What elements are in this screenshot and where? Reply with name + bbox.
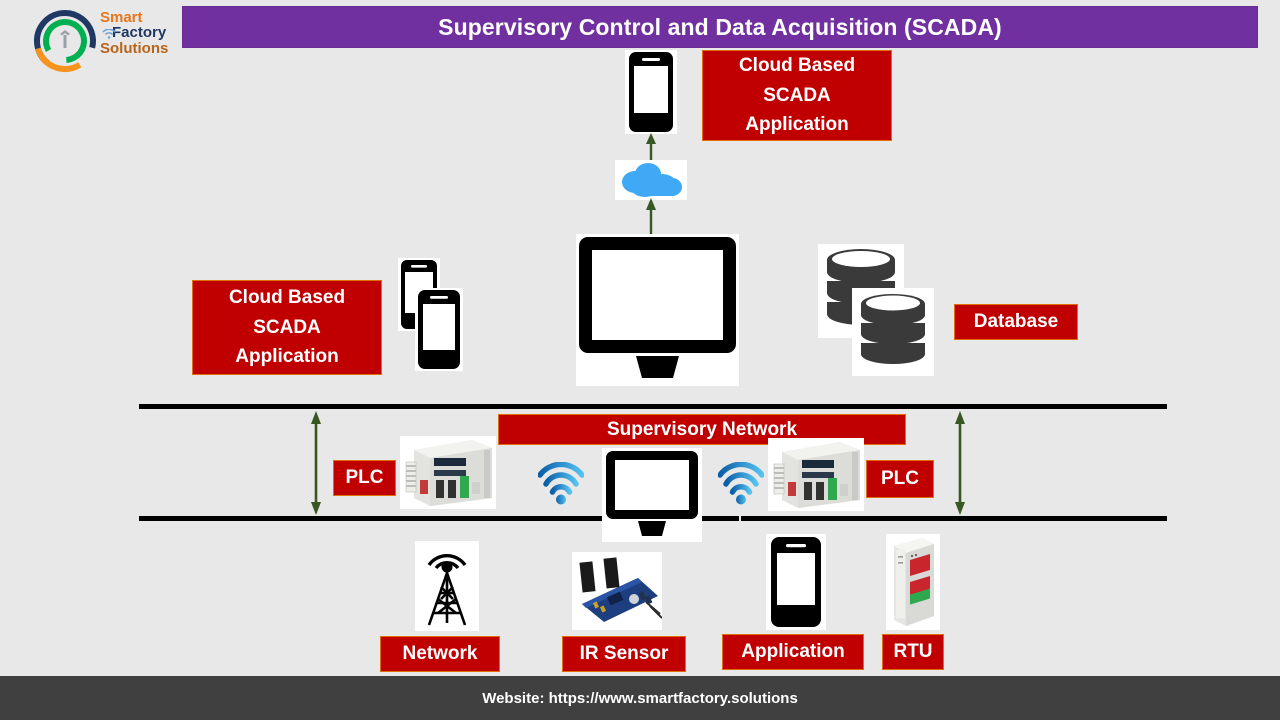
label-line-3: Application — [745, 110, 848, 139]
plc-hardware-icon — [768, 438, 864, 511]
label-plc-left-text: PLC — [346, 467, 384, 489]
ir-sensor-board-icon — [572, 552, 662, 630]
arrow-up-icon — [641, 198, 661, 238]
label-plc-left: PLC — [333, 460, 396, 496]
scada-diagram-canvas: Smart Factory Solutions Supervisory Cont… — [0, 0, 1280, 720]
desktop-monitor-icon — [576, 234, 739, 386]
page-title: Supervisory Control and Data Acquisition… — [182, 6, 1258, 48]
wifi-icon — [718, 462, 764, 506]
radio-tower-icon — [415, 541, 479, 631]
logo-line-smart: Smart — [100, 10, 168, 25]
label-database-text: Database — [974, 311, 1059, 333]
label-line-1: Cloud Based — [739, 51, 855, 80]
label-rtu: RTU — [882, 634, 944, 670]
label-database: Database — [954, 304, 1078, 340]
label-line-2: SCADA — [253, 313, 321, 342]
wifi-icon — [538, 462, 584, 506]
rtu-module-icon — [886, 534, 940, 630]
footer-website-text: Website: https://www.smartfactory.soluti… — [482, 690, 798, 707]
label-application-text: Application — [741, 641, 844, 663]
label-line-1: Cloud Based — [229, 283, 345, 312]
label-application: Application — [722, 634, 864, 670]
database-cylinders-icon — [852, 288, 934, 376]
label-ir-sensor-text: IR Sensor — [580, 643, 669, 665]
label-plc-right-text: PLC — [881, 468, 919, 490]
label-network: Network — [380, 636, 500, 672]
logo-ring-icon — [32, 8, 98, 74]
mobile-phone-icon — [625, 50, 677, 134]
logo-wifi-icon — [102, 29, 116, 39]
double-arrow-vertical-icon — [306, 411, 326, 515]
desktop-monitor-icon — [602, 448, 702, 542]
brand-logo: Smart Factory Solutions — [14, 4, 182, 74]
label-rtu-text: RTU — [893, 641, 932, 663]
page-title-text: Supervisory Control and Data Acquisition… — [438, 14, 1002, 41]
label-line-2: SCADA — [763, 81, 831, 110]
label-line-3: Application — [235, 342, 338, 371]
footer-bar: Website: https://www.smartfactory.soluti… — [0, 676, 1280, 720]
label-cloud-based-scada-left: Cloud Based SCADA Application — [192, 280, 382, 375]
logo-line-solutions: Solutions — [100, 41, 168, 56]
label-cloud-based-scada-top: Cloud Based SCADA Application — [702, 50, 892, 141]
label-ir-sensor: IR Sensor — [562, 636, 686, 672]
supervisory-bus-line-top — [139, 404, 1167, 409]
mobile-phone-icon — [415, 288, 463, 371]
mobile-phone-icon — [766, 534, 826, 630]
label-network-text: Network — [403, 643, 478, 665]
plc-hardware-icon — [400, 436, 496, 509]
double-arrow-vertical-icon — [950, 411, 970, 515]
supervisory-bus-line-bottom-right — [741, 516, 1167, 521]
label-plc-right: PLC — [866, 460, 934, 498]
cloud-icon — [615, 160, 687, 200]
